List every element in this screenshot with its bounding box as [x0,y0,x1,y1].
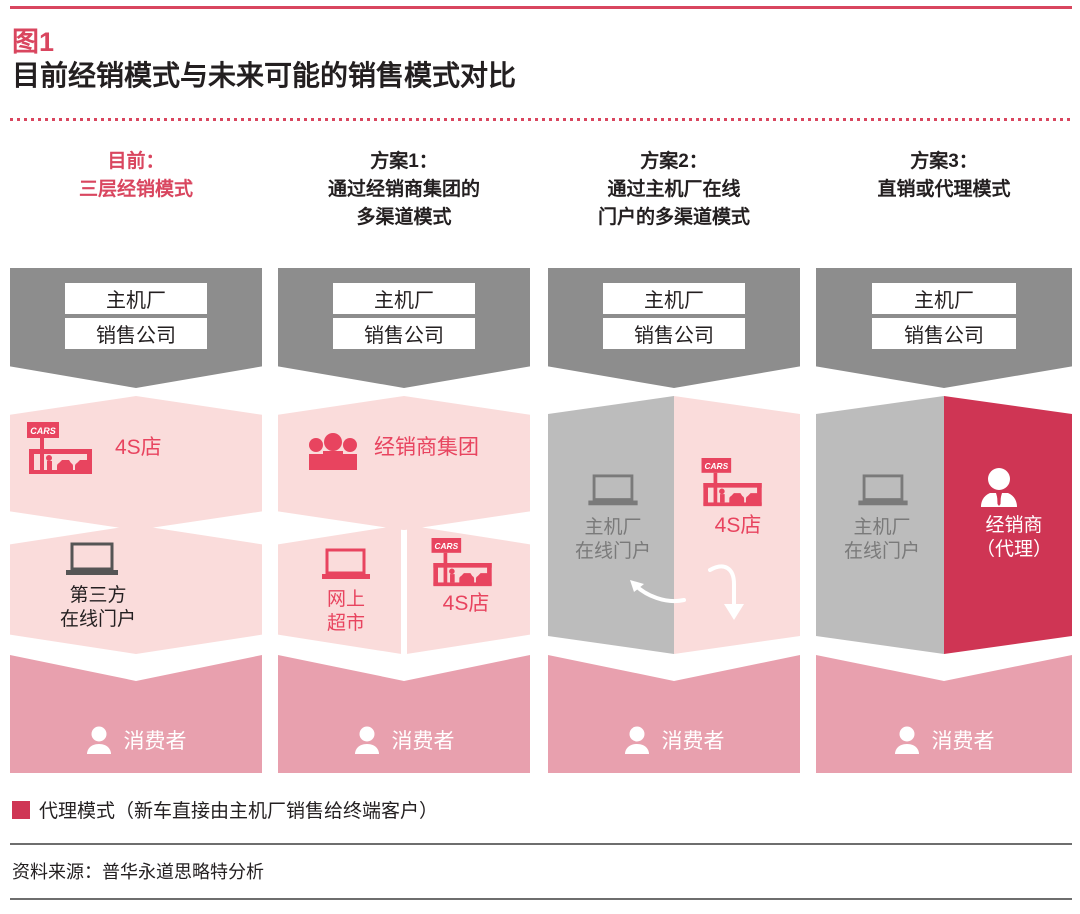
oem-box-sales-company: 销售公司 [872,318,1015,349]
column-header-line1: 方案3： [816,148,1072,176]
oem-block: 主机厂 销售公司 [278,268,530,388]
label-text: 主机厂 在线门户 [822,516,942,564]
column-header-line1: 方案1： [278,148,530,176]
oem-box-manufacturer: 主机厂 [872,283,1015,314]
consumer-inner: 消费者 [816,725,1072,755]
channel-label-oem-portal: 主机厂 在线门户 [553,516,673,564]
channel-label-oem-portal: 主机厂 在线门户 [822,516,942,564]
column-header-line1: 方案2： [548,148,800,176]
channel-label-dealership: 4S店 [688,514,788,538]
channel-label-dealership: 4S店 [115,436,225,460]
figure-page: 图1 目前经销模式与未来可能的销售模式对比 目前： 三层经销模式 方案1： 通过… [0,0,1080,914]
people-group-icon [306,434,360,470]
dotted-divider [10,118,1072,121]
person-icon [624,725,650,755]
label-text: 主机厂 在线门户 [553,516,673,564]
consumer-label: 消费者 [392,725,455,755]
legend-label-agency-model: 代理模式（新车直接由主机厂销售给终端客户） [39,796,438,823]
laptop-icon [858,474,908,510]
column-header-2: 方案2： 通过主机厂在线 门户的多渠道模式 [548,148,800,248]
consumer-label: 消费者 [932,725,995,755]
page-title: 目前经销模式与未来可能的销售模式对比 [12,54,516,94]
channel-band: CARS 4S店 [10,396,262,654]
column-header-line2: 通过经销商集团的 [278,176,530,204]
legend-swatch-agency-model [12,801,30,819]
column-header-1: 方案1： 通过经销商集团的 多渠道模式 [278,148,530,248]
laptop-icon [588,474,638,510]
source-note: 资料来源：普华永道思略特分析 [12,858,264,884]
top-rule [10,6,1072,9]
oem-block: 主机厂 销售公司 [548,268,800,388]
footer-rule-top [10,843,1072,845]
column-header-line3: 多渠道模式 [278,204,530,232]
dealership-icon: CARS [698,458,768,508]
svg-text:CARS: CARS [435,541,459,551]
person-icon [894,725,920,755]
model-column-option2: 主机厂 销售公司 主机厂 在线门户 CARS [548,268,800,773]
model-column-option3: 主机厂 销售公司 主机厂 在线门户 [816,268,1072,773]
arrow-to-portal-icon [608,564,690,610]
column-header-line3: 门户的多渠道模式 [548,204,800,232]
arrow-to-consumer-icon [700,556,764,628]
channel-label-online-supermarket: 网上 超市 [298,588,394,636]
oem-box-sales-company: 销售公司 [603,318,744,349]
channel-band: 主机厂 在线门户 经销商 （代理） [816,396,1072,654]
channel-band: 经销商集团 网上 超市 CARS [278,396,530,654]
channel-label-third-party-portal: 第三方 在线门户 [10,584,186,632]
channel-label-agent-dealer: 经销商 （代理） [956,514,1072,562]
person-icon [86,725,112,755]
oem-box-sales-company: 销售公司 [65,318,206,349]
channel-label-dealer-group: 经销商集团 [374,436,524,460]
oem-box-sales-company: 销售公司 [333,318,474,349]
column-header-line2: 通过主机厂在线 [548,176,800,204]
legend: 代理模式（新车直接由主机厂销售给终端客户） [12,796,438,823]
label-text: 经销商 （代理） [956,514,1072,562]
label-text: 第三方 在线门户 [10,584,186,632]
oem-box-manufacturer: 主机厂 [65,283,206,314]
oem-block: 主机厂 销售公司 [10,268,262,388]
consumer-band: 消费者 [548,655,800,773]
model-column-current: 主机厂 销售公司 CARS [10,268,262,773]
consumer-inner: 消费者 [278,725,530,755]
laptop-icon [66,542,118,580]
svg-text:CARS: CARS [30,426,56,436]
oem-box-manufacturer: 主机厂 [333,283,474,314]
column-header-line2: 三层经销模式 [10,176,262,204]
column-header-0: 目前： 三层经销模式 [10,148,262,248]
consumer-inner: 消费者 [548,725,800,755]
dealership-icon: CARS [24,422,98,476]
dealership-icon: CARS [428,538,498,588]
agent-person-icon [978,466,1020,508]
oem-block: 主机厂 销售公司 [816,268,1072,388]
consumer-band: 消费者 [10,655,262,773]
consumer-label: 消费者 [662,725,725,755]
consumer-band: 消费者 [816,655,1072,773]
oem-box-manufacturer: 主机厂 [603,283,744,314]
svg-text:CARS: CARS [705,461,729,471]
model-column-option1: 主机厂 销售公司 经销商集团 [278,268,530,773]
person-icon [354,725,380,755]
laptop-icon [322,548,370,584]
consumer-label: 消费者 [124,725,187,755]
footer-rule-bottom [10,898,1072,900]
column-header-3: 方案3： 直销或代理模式 [816,148,1072,248]
consumer-inner: 消费者 [10,725,262,755]
column-header-line1: 目前： [10,148,262,176]
channel-label-dealership: 4S店 [418,592,514,616]
consumer-band: 消费者 [278,655,530,773]
column-header-line2: 直销或代理模式 [816,176,1072,204]
label-text: 网上 超市 [298,588,394,636]
channel-band: 主机厂 在线门户 CARS 4S [548,396,800,654]
